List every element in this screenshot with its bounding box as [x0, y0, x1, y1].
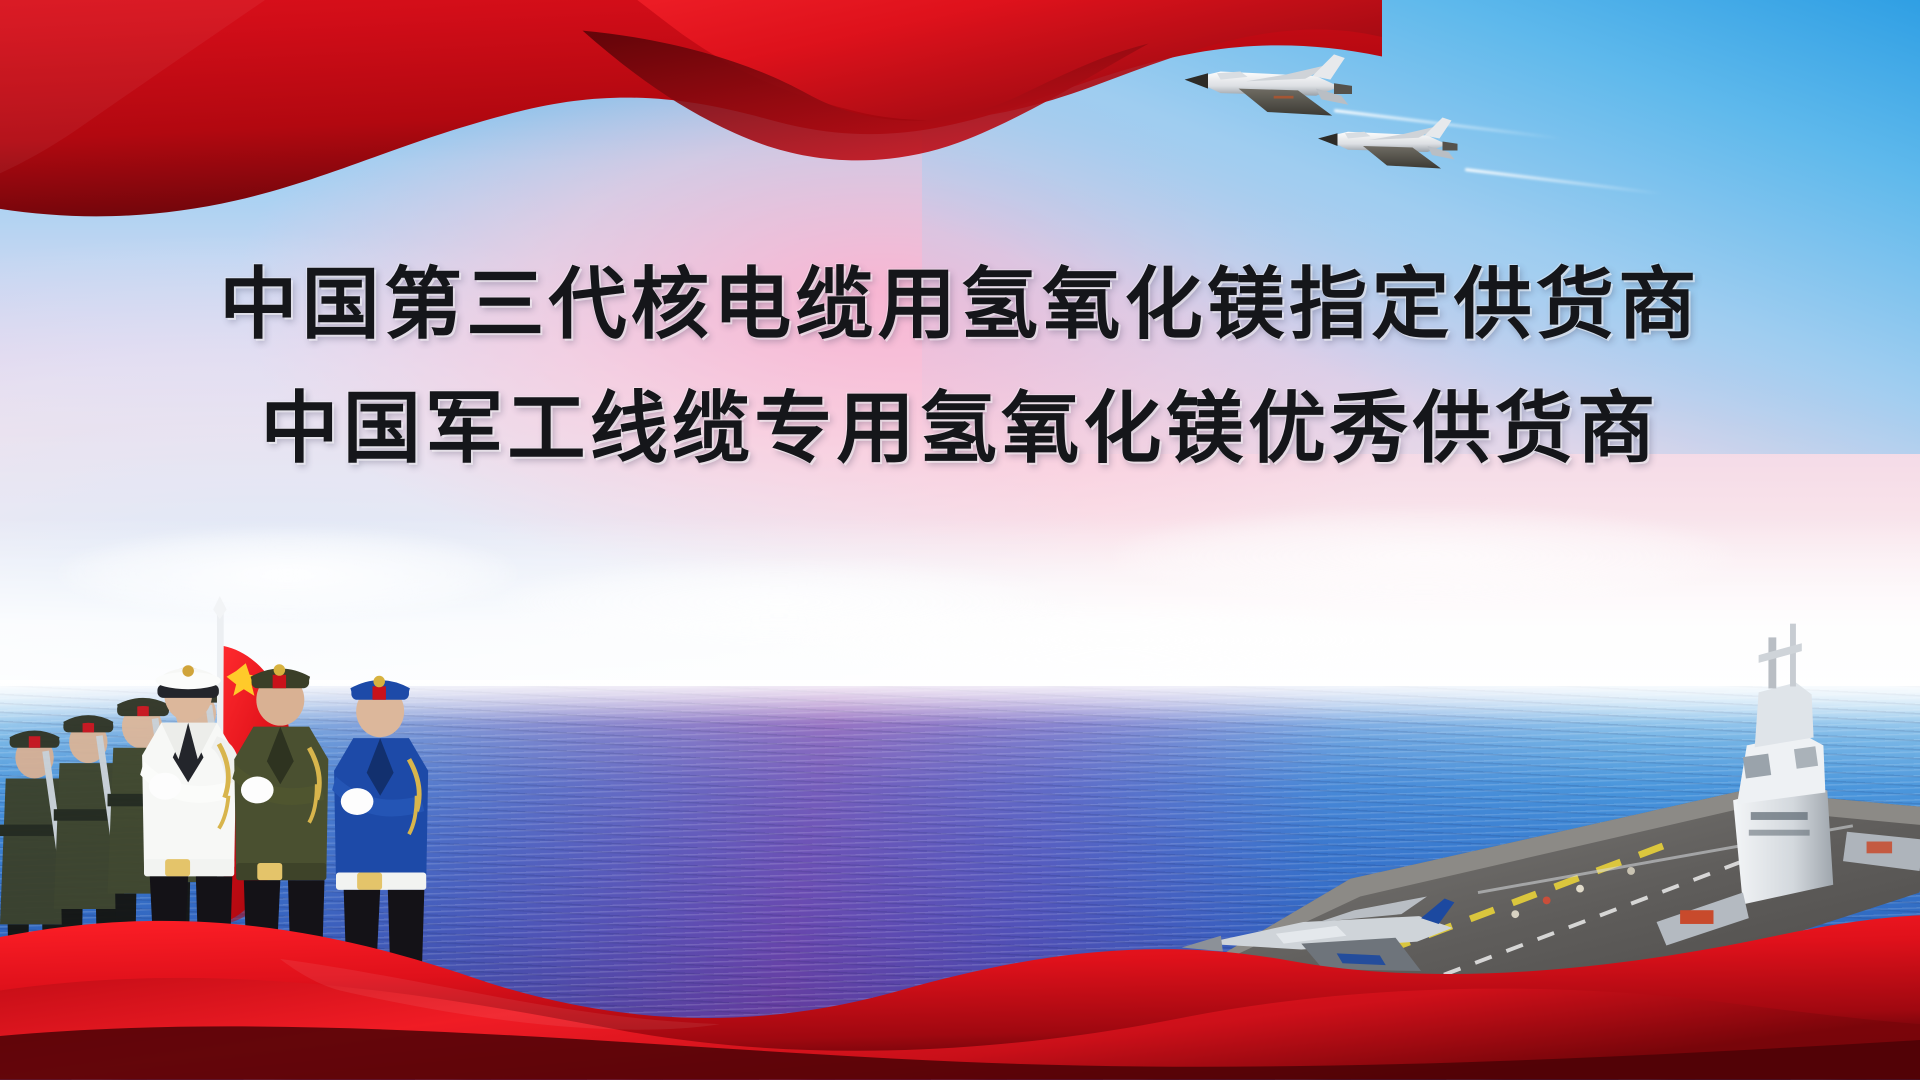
red-silk-ribbon — [0, 842, 1920, 1080]
waving-red-flag — [0, 0, 1382, 259]
cloud-icon — [1114, 508, 1734, 604]
fighter-jet-icon — [1315, 113, 1465, 189]
banner-canvas: 中国第三代核电缆用氢氧化镁指定供货商 中国军工线缆专用氢氧化镁优秀供货商 — [0, 0, 1920, 1080]
